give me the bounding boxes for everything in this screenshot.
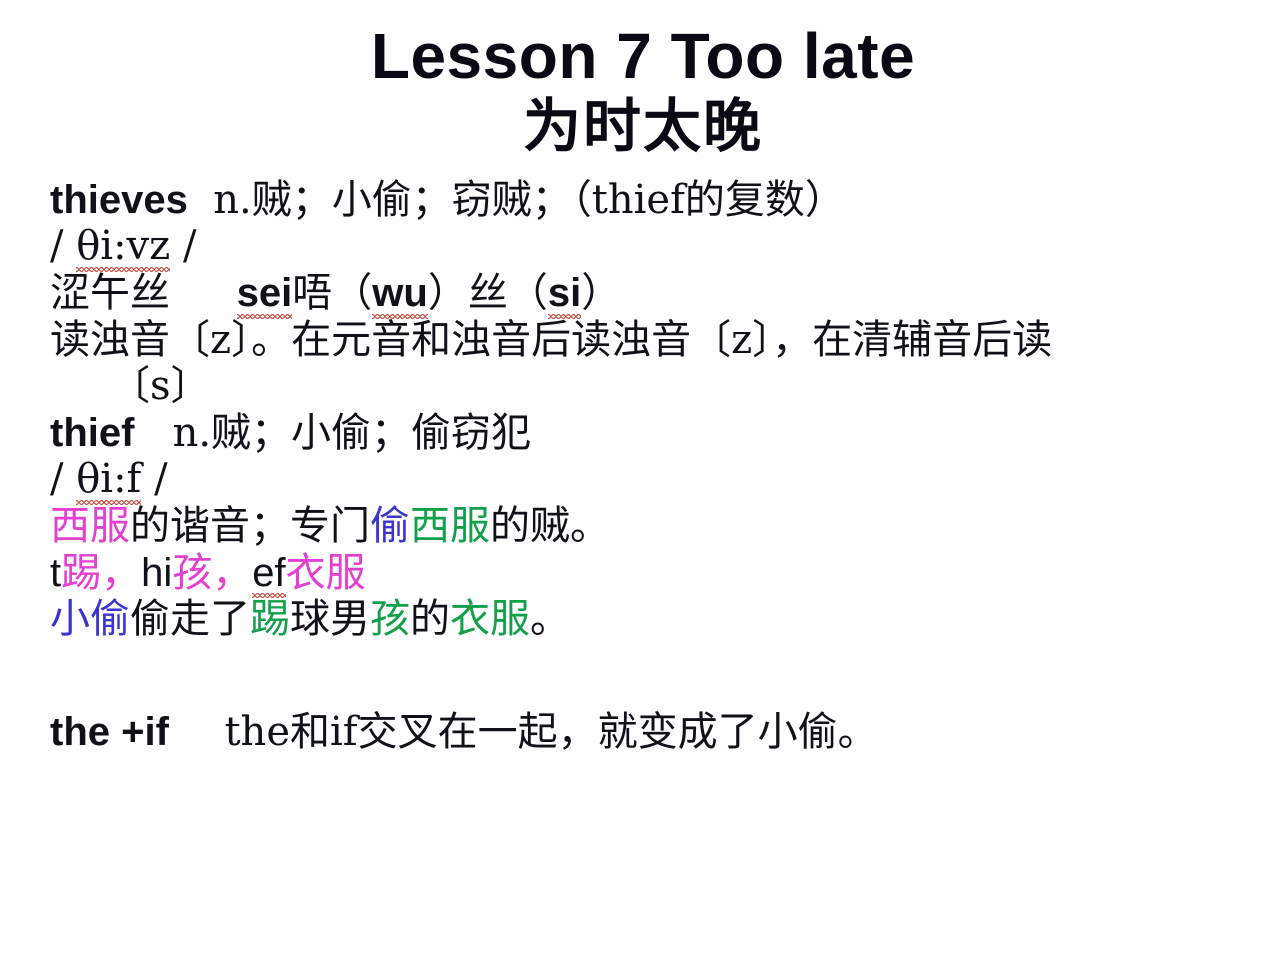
- gloss-thieves: n.贼；小偷；窃贼；（thief的复数）: [188, 177, 845, 223]
- title-block: Lesson 7 Too late 为时太晚: [0, 0, 1286, 162]
- ipa-thief-line: / θi:f /: [50, 457, 1252, 503]
- mnemonic-suit-text1: 的谐音；专门: [130, 503, 370, 549]
- paragraph-spacer: [50, 644, 1252, 710]
- sentence-clothes-green: 衣服: [450, 596, 530, 642]
- ipa-thief-close-slash: /: [141, 456, 167, 502]
- sentence-thief-blue: 小偷: [50, 596, 130, 642]
- entry-thieves-line: thieves n.贼；小偷；窃贼；（thief的复数）: [50, 178, 1252, 224]
- mnemonic-sound-line: 涩午丝 sei唔（wu）丝（si）: [50, 271, 1252, 317]
- mnemonic-suit-pink: 西服: [50, 503, 130, 549]
- sentence-ball-boy: 球男: [290, 596, 370, 642]
- letter-ef: ef: [252, 551, 285, 597]
- lesson-body: thieves n.贼；小偷；窃贼；（thief的复数） / θi:vz / 涩…: [0, 178, 1286, 756]
- syllable-sei: sei: [237, 271, 293, 317]
- headword-thief: thief: [50, 411, 134, 455]
- mnemonic-suit-line: 西服的谐音；专门偷西服的贼。: [50, 504, 1252, 550]
- mnemonic-sentence-line: 小偷偷走了踢球男孩的衣服。: [50, 597, 1252, 643]
- letter-t: t: [50, 551, 61, 595]
- the-if-line: the +if the和if交叉在一起，就变成了小偷。: [50, 710, 1252, 756]
- the-if-gap: [169, 710, 225, 754]
- mnemonic-steal-blue: 偷: [370, 503, 410, 549]
- ipa-thieves-misspelled: θi:vz: [76, 224, 170, 270]
- sentence-stole: 偷走了: [130, 596, 250, 642]
- mnemonic-gap: [170, 271, 237, 315]
- title-chinese: 为时太晚: [0, 91, 1286, 162]
- gloss-thief: n.贼；小偷；偷窃犯: [134, 410, 531, 456]
- ipa-thief-misspelled: θi:f: [76, 457, 141, 503]
- mnemonic-chinese-sound: 涩午丝: [50, 270, 170, 316]
- sentence-period: 。: [530, 596, 570, 642]
- letter-hi: hi: [141, 551, 172, 595]
- syllable-close-paren: ）: [581, 270, 621, 316]
- pronunciation-rule-text-cont: 〔s〕: [110, 363, 211, 409]
- slide-canvas: Lesson 7 Too late 为时太晚 thieves n.贼；小偷；窃贼…: [0, 0, 1286, 960]
- headword-thieves: thieves: [50, 178, 188, 222]
- mnemonic-kick: 踢，: [61, 550, 141, 596]
- mnemonic-suit-green: 西服: [410, 503, 490, 549]
- mnemonic-child: 孩，: [172, 550, 252, 596]
- sentence-kick-green: 踢: [250, 596, 290, 642]
- syllable-si: si: [548, 271, 581, 317]
- letter-mnemonic-line: t踢，hi孩，ef衣服: [50, 551, 1252, 597]
- ipa-open-slash: /: [50, 223, 76, 269]
- mnemonic-suit-text2: 的贼。: [490, 503, 610, 549]
- pronunciation-rule-continued: 〔s〕: [50, 364, 1252, 410]
- entry-thief-line: thief n.贼；小偷；偷窃犯: [50, 411, 1252, 457]
- pronunciation-rule-text: 读浊音〔z〕。在元音和浊音后读浊音〔z〕，在清辅音后读: [50, 317, 1052, 363]
- pronunciation-rule-line: 读浊音〔z〕。在元音和浊音后读浊音〔z〕，在清辅音后读: [50, 318, 1252, 364]
- the-if-explanation: the和if交叉在一起，就变成了小偷。: [224, 709, 877, 755]
- ipa-thief-open-slash: /: [50, 456, 76, 502]
- sentence-de: 的: [410, 596, 450, 642]
- mnemonic-clothes: 衣服: [286, 550, 366, 596]
- formula-the-if: the +if: [50, 710, 169, 754]
- ipa-thieves-line: / θi:vz /: [50, 224, 1252, 270]
- ipa-close-slash: /: [170, 223, 196, 269]
- syllable-mid: ）丝（: [428, 270, 548, 316]
- title-english: Lesson 7 Too late: [0, 22, 1286, 91]
- sentence-child-green: 孩: [370, 596, 410, 642]
- syllable-wu-prefix: 唔（: [292, 270, 372, 316]
- syllable-wu: wu: [372, 271, 428, 317]
